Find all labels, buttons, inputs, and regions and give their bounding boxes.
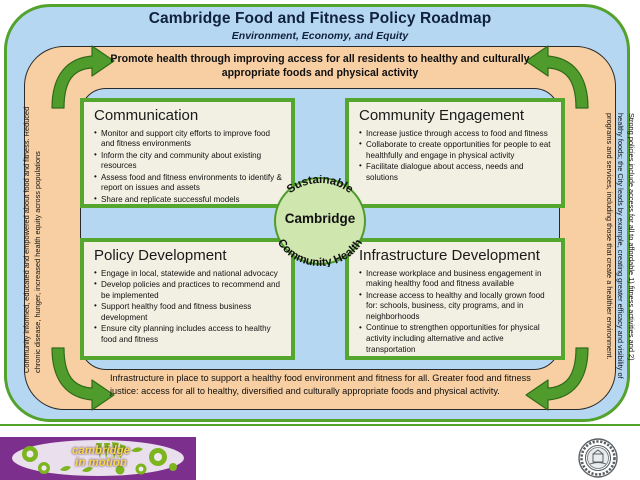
quadrant-title: Policy Development	[94, 248, 283, 265]
quadrant-bullet-list: Engage in local, statewide and national …	[94, 269, 283, 346]
goal-banner-top: Promote health through improving access …	[110, 52, 530, 81]
list-item: Develop policies and practices to recomm…	[94, 280, 283, 302]
list-item: Continue to strengthen opportunities for…	[359, 323, 553, 355]
list-item: Increase justice through access to food …	[359, 129, 553, 140]
quadrant-title: Community Engagement	[359, 108, 553, 125]
list-item: Increase access to healthy and locally g…	[359, 291, 553, 323]
list-item: Monitor and support city efforts to impr…	[94, 129, 283, 151]
page-title: Cambridge Food and Fitness Policy Roadma…	[0, 10, 640, 28]
list-item: Collaborate to create opportunities for …	[359, 140, 553, 162]
list-item: Engage in local, statewide and national …	[94, 269, 283, 280]
cambridge-in-motion-logo[interactable]: cambridge in motion	[0, 437, 196, 480]
list-item: Ensure city planning includes access to …	[94, 324, 283, 346]
outcome-banner-bottom: Infrastructure in place to support a hea…	[110, 372, 550, 398]
logo-line-1: cambridge	[46, 445, 156, 457]
center-hub: Sustainable Community Health Cambridge	[258, 175, 382, 267]
outcome-text-right: Strong policies include access for all t…	[603, 113, 637, 381]
center-label: Cambridge	[258, 211, 382, 226]
list-item: Share and replicate successful models	[94, 195, 283, 206]
logo-wordmark: cambridge in motion	[46, 445, 156, 469]
list-item: Facilitate dialogue about access, needs …	[359, 162, 553, 184]
quadrant-bullet-list: Increase justice through access to food …	[359, 129, 553, 184]
footer-divider	[0, 424, 640, 426]
list-item: Assess food and fitness environments to …	[94, 173, 283, 195]
list-item: Inform the city and community about exis…	[94, 151, 283, 173]
list-item: Support healthy food and fitness busines…	[94, 302, 283, 324]
quadrant-title: Communication	[94, 108, 283, 125]
quadrant-title: Infrastructure Development	[359, 248, 553, 265]
page-subtitle: Environment, Economy, and Equity	[0, 30, 640, 42]
list-item: Increase workplace and business engageme…	[359, 269, 553, 291]
logo-line-2: in motion	[46, 457, 156, 469]
quadrant-bullet-list: Monitor and support city efforts to impr…	[94, 129, 283, 206]
city-of-cambridge-seal-icon	[578, 438, 618, 478]
outcome-text-left: Community informed, educated and empower…	[21, 105, 51, 373]
quadrant-bullet-list: Increase workplace and business engageme…	[359, 269, 553, 356]
roadmap-diagram: Cambridge Food and Fitness Policy Roadma…	[0, 0, 640, 480]
